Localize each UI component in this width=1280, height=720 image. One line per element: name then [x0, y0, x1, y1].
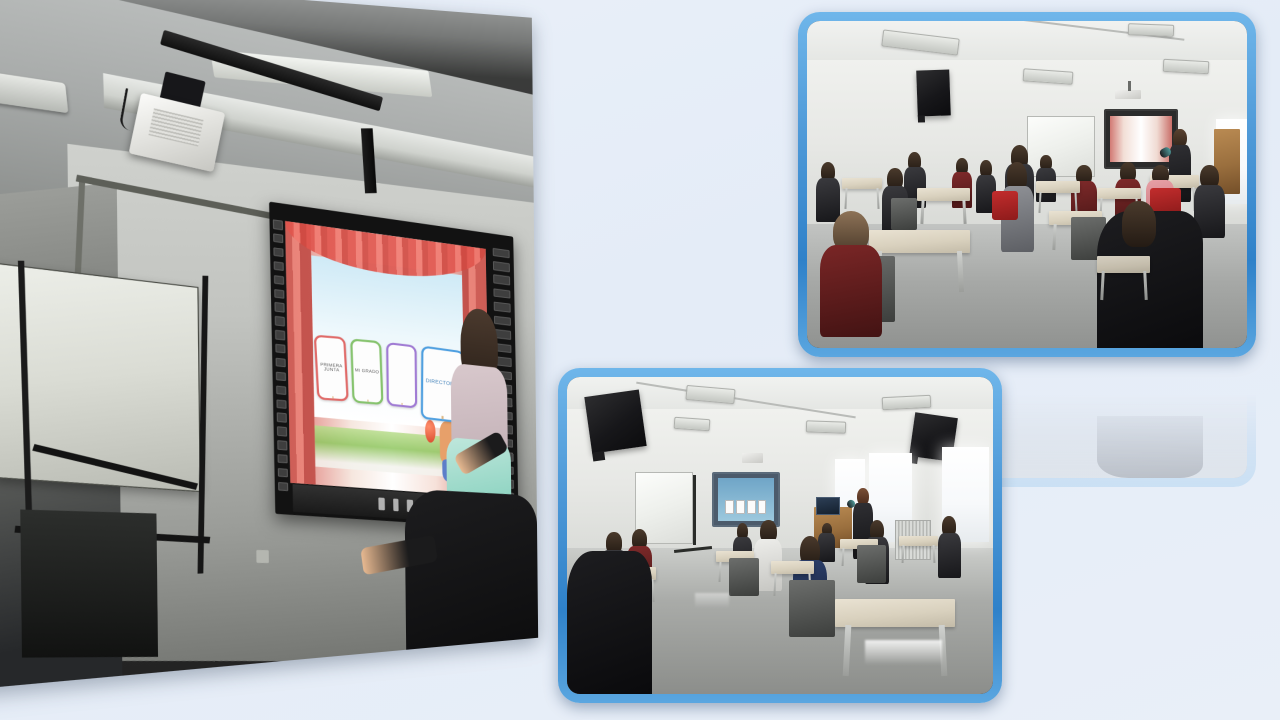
chair	[992, 191, 1018, 220]
classroom-scene-wide	[567, 377, 993, 694]
projector-drop-rod	[1128, 81, 1131, 91]
iwb-button	[277, 454, 286, 464]
iwb-button	[274, 261, 283, 271]
iwb-button	[278, 481, 287, 491]
projected-slide	[718, 478, 774, 521]
doorway	[21, 510, 159, 658]
wall-speaker-left-icon	[585, 389, 648, 453]
chair	[857, 545, 887, 583]
ceiling-lamp-icon	[1163, 59, 1210, 74]
desk	[1097, 256, 1150, 272]
chair	[729, 558, 759, 596]
projected-sign	[758, 500, 767, 513]
iwb-button	[273, 247, 282, 257]
classroom-scene-front	[807, 21, 1247, 348]
wall-socket	[257, 549, 270, 563]
mobile-whiteboard	[0, 263, 201, 493]
desk	[835, 599, 954, 628]
iwb-button	[273, 233, 282, 243]
ceiling-lamp-icon	[805, 421, 846, 434]
chair	[891, 198, 917, 231]
iwb-button	[276, 385, 285, 395]
floor-light-reflection	[865, 640, 942, 665]
chair	[789, 580, 836, 637]
slide-sign-1: PRIMERA JUNTA	[313, 334, 349, 401]
projection-screen	[712, 472, 780, 527]
iwb-button	[274, 274, 283, 284]
slide-sign-row: PRIMERA JUNTA MI GRADO DIRECTORIO	[314, 334, 465, 450]
interactive-whiteboard-lesson-photo[interactable]: PRIMERA JUNTA MI GRADO DIRECTORIO	[30, 18, 550, 668]
desk	[1097, 188, 1141, 199]
iwb-button	[274, 302, 283, 312]
student	[938, 516, 961, 576]
projected-sign	[747, 500, 756, 513]
classroom-students-seated-photo[interactable]	[798, 12, 1256, 357]
slide-canvas: PRIMERA JUNTA MI GRADO DIRECTORIO	[0, 0, 1280, 720]
photo-surface[interactable]: PRIMERA JUNTA MI GRADO DIRECTORIO	[0, 0, 538, 689]
wall-speaker-icon	[916, 69, 951, 116]
iwb-button	[277, 440, 286, 450]
projected-sign	[725, 500, 734, 513]
student-foreground-left	[567, 551, 652, 694]
desk	[842, 178, 882, 189]
classroom-wide-view-photo[interactable]	[558, 368, 1002, 703]
student-foreground-left	[820, 211, 882, 335]
iwb-button	[276, 371, 285, 381]
iwb-button	[492, 261, 509, 272]
pen-icon	[378, 498, 384, 511]
classroom-projector-scene: PRIMERA JUNTA MI GRADO DIRECTORIO	[0, 0, 538, 689]
iwb-button	[492, 247, 509, 258]
iwb-button	[493, 288, 510, 299]
desk	[899, 536, 937, 546]
ceiling-projector-icon	[742, 453, 763, 463]
iwb-button	[273, 219, 282, 229]
teacher-foreground	[404, 489, 538, 657]
classroom-wide-view-photo-reflection	[558, 703, 1002, 720]
desk	[1036, 181, 1080, 192]
iwb-button	[276, 399, 285, 409]
desk	[869, 230, 970, 253]
slide-sign-2: MI GRADO	[349, 338, 383, 404]
projected-sign-row	[725, 500, 766, 513]
projected-sign	[736, 500, 745, 513]
iwb-button	[274, 288, 283, 298]
ceiling-lamp-icon	[1128, 23, 1174, 37]
desk	[917, 188, 970, 201]
iwb-button	[277, 412, 286, 422]
iwb-button	[275, 330, 284, 340]
iwb-button	[276, 357, 285, 367]
screen-tripod-pole	[693, 475, 696, 545]
eraser-icon	[392, 499, 398, 512]
photo-surface	[567, 377, 993, 694]
iwb-button	[277, 426, 286, 436]
iwb-button	[275, 316, 284, 326]
laptop	[816, 497, 839, 515]
desk	[771, 561, 814, 574]
iwb-button	[493, 274, 510, 285]
photo-surface	[807, 21, 1247, 348]
floor-light-reflection	[695, 593, 729, 609]
slide-sign-3	[385, 341, 417, 407]
iwb-button	[275, 343, 284, 353]
slide-curtain-left	[284, 221, 314, 484]
iwb-button	[278, 468, 287, 478]
